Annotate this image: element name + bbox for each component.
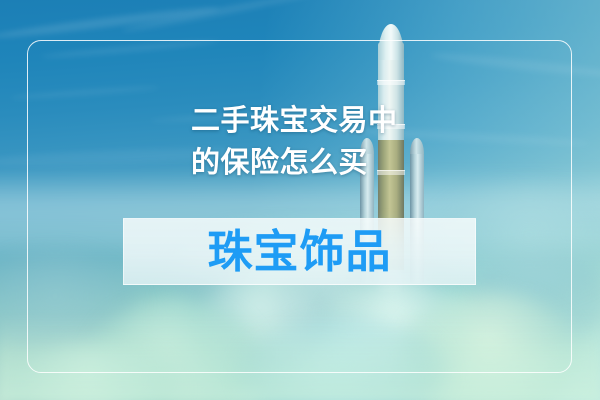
- rocket-band: [377, 80, 405, 85]
- headline-title: 二手珠宝交易中 的保险怎么买: [191, 100, 491, 184]
- ground-haze: [0, 314, 600, 400]
- category-banner: 珠宝饰品: [123, 218, 476, 285]
- category-banner-label: 珠宝饰品: [207, 229, 391, 274]
- background-photo: [0, 0, 600, 400]
- banner-card: 二手珠宝交易中 的保险怎么买 珠宝饰品: [0, 0, 600, 400]
- rocket-nose-cone: [378, 24, 404, 60]
